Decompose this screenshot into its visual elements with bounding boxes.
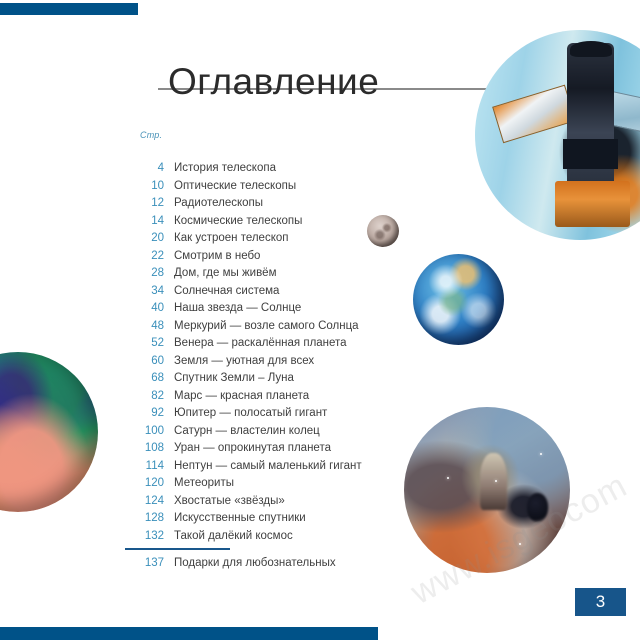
toc-entry-title: Спутник Земли – Луна xyxy=(174,372,294,384)
toc-page-number: 92 xyxy=(0,407,164,419)
toc-entry-title: Смотрим в небо xyxy=(174,250,260,262)
toc-page-number: 108 xyxy=(0,442,164,454)
toc-entry-title: Хвостатые «звёзды» xyxy=(174,495,285,507)
table-of-contents-row[interactable]: 22Смотрим в небо xyxy=(0,250,400,268)
table-of-contents-row[interactable]: 92Юпитер — полосатый гигант xyxy=(0,407,400,425)
toc-entry-title: Юпитер — полосатый гигант xyxy=(174,407,327,419)
toc-entry-title: Такой далёкий космос xyxy=(174,530,293,542)
book-page: Оглавление Стр. 4История телескопа10Опти… xyxy=(0,0,640,640)
table-of-contents-row[interactable]: 60Земля — уютная для всех xyxy=(0,355,400,373)
table-of-contents-row[interactable]: 100Сатурн — властелин колец xyxy=(0,425,400,443)
toc-page-number: 124 xyxy=(0,495,164,507)
toc-entry-title: Как устроен телескоп xyxy=(174,232,288,244)
page-number-badge: 3 xyxy=(575,588,626,616)
toc-entry-title: Сатурн — властелин колец xyxy=(174,425,320,437)
toc-entry-title: Уран — опрокинутая планета xyxy=(174,442,331,454)
toc-page-number: 14 xyxy=(0,215,164,227)
column-header-page: Стр. xyxy=(140,130,162,140)
toc-page-number: 68 xyxy=(0,372,164,384)
nebula-star xyxy=(519,543,521,545)
page-title: Оглавление xyxy=(168,63,379,100)
toc-page-number: 28 xyxy=(0,267,164,279)
nebula-photo xyxy=(404,407,570,573)
toc-entry-title: Радиотелескопы xyxy=(174,197,263,209)
nebula-dark-globule xyxy=(527,493,549,521)
toc-page-number: 22 xyxy=(0,250,164,262)
table-of-contents-row[interactable]: 82Марс — красная планета xyxy=(0,390,400,408)
appendix-divider xyxy=(125,548,230,550)
table-of-contents-row[interactable]: 14Космические телескопы xyxy=(0,215,400,233)
toc-entry-title: История телескопа xyxy=(174,162,276,174)
toc-page-number: 20 xyxy=(0,232,164,244)
toc-entry-title: Искусственные спутники xyxy=(174,512,306,524)
toc-entry-title: Нептун — самый маленький гигант xyxy=(174,460,362,472)
toc-entry-title: Меркурий — возле самого Солнца xyxy=(174,320,359,332)
toc-page-number: 12 xyxy=(0,197,164,209)
toc-entry-title: Метеориты xyxy=(174,477,234,489)
table-of-contents-row[interactable]: 40Наша звезда — Солнце xyxy=(0,302,400,320)
top-left-accent-bar xyxy=(0,3,138,15)
earth-photo xyxy=(413,254,504,345)
toc-page-number: 10 xyxy=(0,180,164,192)
toc-entry-title: Оптические телескопы xyxy=(174,180,296,192)
toc-page-number: 114 xyxy=(0,460,164,472)
table-of-contents-list: 4История телескопа10Оптические телескопы… xyxy=(0,162,400,547)
table-of-contents-row[interactable]: 128Искусственные спутники xyxy=(0,512,400,530)
table-of-contents-row[interactable]: 114Нептун — самый маленький гигант xyxy=(0,460,400,478)
toc-page-number: 4 xyxy=(0,162,164,174)
table-of-contents-row[interactable]: 12Радиотелескопы xyxy=(0,197,400,215)
table-of-contents-row[interactable]: 68Спутник Земли – Луна xyxy=(0,372,400,390)
table-of-contents-row[interactable]: 132Такой далёкий космос xyxy=(0,530,400,548)
table-of-contents-row[interactable]: 28Дом, где мы живём xyxy=(0,267,400,285)
toc-page-number: 128 xyxy=(0,512,164,524)
toc-page-number: 82 xyxy=(0,390,164,402)
nebula-pillar xyxy=(480,453,507,509)
toc-page-number: 100 xyxy=(0,425,164,437)
toc-page-number: 132 xyxy=(0,530,164,542)
hubble-base-module xyxy=(555,181,631,227)
table-of-contents-row[interactable]: 120Метеориты xyxy=(0,477,400,495)
table-of-contents-row[interactable]: 34Солнечная система xyxy=(0,285,400,303)
table-of-contents-row[interactable]: 52Венера — раскалённая планета xyxy=(0,337,400,355)
toc-entry-title: Космические телескопы xyxy=(174,215,302,227)
bottom-left-accent-bar xyxy=(0,627,378,640)
table-of-contents-appendix-row[interactable]: 137 Подарки для любознательных xyxy=(0,557,400,569)
table-of-contents-row[interactable]: 20Как устроен телескоп xyxy=(0,232,400,250)
toc-page-number: 137 xyxy=(0,557,164,569)
hubble-aperture-cap xyxy=(570,41,612,58)
toc-page-number: 48 xyxy=(0,320,164,332)
table-of-contents-row[interactable]: 108Уран — опрокинутая планета xyxy=(0,442,400,460)
hubble-space-telescope-photo xyxy=(475,30,640,240)
toc-entry-title: Солнечная система xyxy=(174,285,279,297)
toc-page-number: 52 xyxy=(0,337,164,349)
toc-entry-title: Венера — раскалённая планета xyxy=(174,337,347,349)
toc-page-number: 120 xyxy=(0,477,164,489)
table-of-contents-row[interactable]: 10Оптические телескопы xyxy=(0,180,400,198)
toc-page-number: 60 xyxy=(0,355,164,367)
toc-entry-title: Подарки для любознательных xyxy=(174,557,336,569)
toc-entry-title: Марс — красная планета xyxy=(174,390,309,402)
table-of-contents-row[interactable]: 124Хвостатые «звёзды» xyxy=(0,495,400,513)
toc-page-number: 34 xyxy=(0,285,164,297)
toc-entry-title: Дом, где мы живём xyxy=(174,267,276,279)
table-of-contents-row[interactable]: 4История телескопа xyxy=(0,162,400,180)
toc-entry-title: Земля — уютная для всех xyxy=(174,355,314,367)
hubble-solar-panel-left xyxy=(492,85,575,143)
nebula-star xyxy=(540,453,542,455)
toc-page-number: 40 xyxy=(0,302,164,314)
hubble-instrument-box xyxy=(563,139,618,168)
toc-entry-title: Наша звезда — Солнце xyxy=(174,302,301,314)
nebula-star xyxy=(447,477,449,479)
table-of-contents-row[interactable]: 48Меркурий — возле самого Солнца xyxy=(0,320,400,338)
